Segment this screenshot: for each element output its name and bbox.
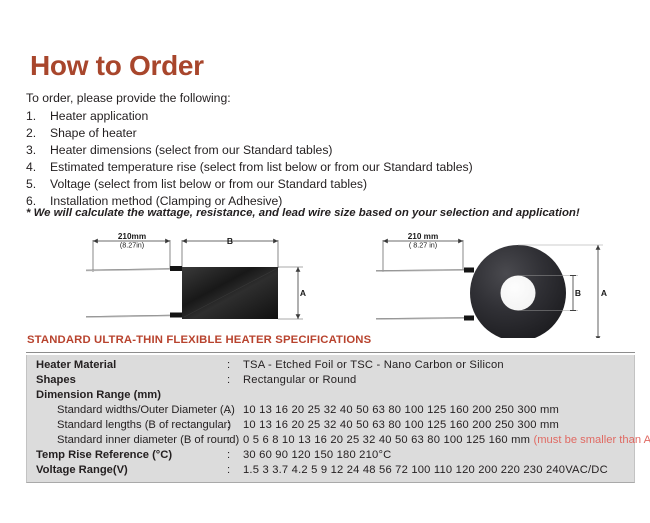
spec-value: 10 13 16 20 25 32 40 50 63 80 100 125 16… bbox=[243, 418, 634, 433]
spec-label: Standard lengths (B of rectangular) bbox=[27, 418, 227, 433]
rect-height-label: A bbox=[300, 288, 306, 298]
round-inner-label: B bbox=[575, 288, 581, 298]
list-item-number: 3. bbox=[26, 142, 50, 159]
list-item-number: 2. bbox=[26, 125, 50, 142]
spec-value: 1.5 3 3.7 4.2 5 9 12 24 48 56 72 100 110… bbox=[243, 463, 634, 478]
table-row: Heater Material : TSA - Etched Foil or T… bbox=[27, 358, 634, 373]
spec-colon: : bbox=[227, 433, 243, 448]
spec-colon: : bbox=[227, 448, 243, 463]
round-heater-diagram: 210 mm ( 8.27 in) B A bbox=[370, 228, 650, 338]
list-item: 4. Estimated temperature rise (select fr… bbox=[26, 159, 626, 176]
list-item-label: Heater dimensions (select from our Stand… bbox=[50, 142, 626, 159]
spec-label: Standard inner diameter (B of round) bbox=[27, 433, 227, 448]
footnote-text: * We will calculate the wattage, resista… bbox=[26, 206, 580, 220]
rect-lead-length-in: (8.27in) bbox=[120, 241, 144, 250]
table-row: Standard widths/Outer Diameter (A) : 10 … bbox=[27, 403, 634, 418]
list-item: 5. Voltage (select from list below or fr… bbox=[26, 176, 626, 193]
spec-colon: : bbox=[227, 373, 243, 388]
spec-label: Shapes bbox=[27, 373, 227, 388]
spec-value: 0 5 6 8 10 13 16 20 25 32 40 50 63 80 10… bbox=[243, 433, 650, 448]
round-lead-length-in: ( 8.27 in) bbox=[409, 241, 437, 250]
spec-colon: : bbox=[227, 403, 243, 418]
list-item-label: Heater application bbox=[50, 108, 626, 125]
intro-text: To order, please provide the following: bbox=[26, 91, 231, 106]
spec-label: Heater Material bbox=[27, 358, 227, 373]
spec-label: Standard widths/Outer Diameter (A) bbox=[27, 403, 227, 418]
list-item: 2. Shape of heater bbox=[26, 125, 626, 142]
list-item-number: 1. bbox=[26, 108, 50, 125]
list-item-label: Shape of heater bbox=[50, 125, 626, 142]
list-item: 3. Heater dimensions (select from our St… bbox=[26, 142, 626, 159]
table-row: Standard lengths (B of rectangular) : 10… bbox=[27, 418, 634, 433]
spec-colon: : bbox=[227, 358, 243, 373]
list-item-number: 5. bbox=[26, 176, 50, 193]
spec-divider bbox=[26, 352, 635, 353]
spec-value-note: (must be smaller than A) bbox=[534, 434, 650, 446]
spec-value: 30 60 90 120 150 180 210°C bbox=[243, 448, 634, 463]
spec-section-heading: STANDARD ULTRA-THIN FLEXIBLE HEATER SPEC… bbox=[27, 334, 371, 346]
spec-value: Rectangular or Round bbox=[243, 373, 634, 388]
table-row: Temp Rise Reference (°C) : 30 60 90 120 … bbox=[27, 448, 634, 463]
table-row: Standard inner diameter (B of round) : 0… bbox=[27, 433, 634, 448]
page-title: How to Order bbox=[30, 52, 204, 80]
table-row: Shapes : Rectangular or Round bbox=[27, 373, 634, 388]
spec-value: 10 13 16 20 25 32 40 50 63 80 100 125 16… bbox=[243, 403, 634, 418]
round-outer-label: A bbox=[601, 288, 607, 298]
spec-label: Dimension Range (mm) bbox=[27, 388, 227, 403]
spec-table: Heater Material : TSA - Etched Foil or T… bbox=[26, 355, 635, 483]
spec-label: Temp Rise Reference (°C) bbox=[27, 448, 227, 463]
spec-label: Voltage Range(V) bbox=[27, 463, 227, 478]
list-item-label: Voltage (select from list below or from … bbox=[50, 176, 626, 193]
spec-value-text: 0 5 6 8 10 13 16 20 25 32 40 50 63 80 10… bbox=[243, 434, 534, 446]
spec-value: TSA - Etched Foil or TSC - Nano Carbon o… bbox=[243, 358, 634, 373]
list-item: 1. Heater application bbox=[26, 108, 626, 125]
list-item-label: Estimated temperature rise (select from … bbox=[50, 159, 626, 176]
rectangular-heater-diagram: 210mm (8.27in) B A bbox=[60, 228, 360, 338]
rect-width-label: B bbox=[227, 236, 233, 246]
list-item-number: 4. bbox=[26, 159, 50, 176]
table-row: Voltage Range(V) : 1.5 3 3.7 4.2 5 9 12 … bbox=[27, 463, 634, 478]
spec-colon: : bbox=[227, 463, 243, 478]
order-steps-list: 1. Heater application 2. Shape of heater… bbox=[26, 108, 626, 210]
table-row: Dimension Range (mm) bbox=[27, 388, 634, 403]
spec-colon: : bbox=[227, 418, 243, 433]
product-diagrams: 210mm (8.27in) B A bbox=[0, 228, 650, 338]
